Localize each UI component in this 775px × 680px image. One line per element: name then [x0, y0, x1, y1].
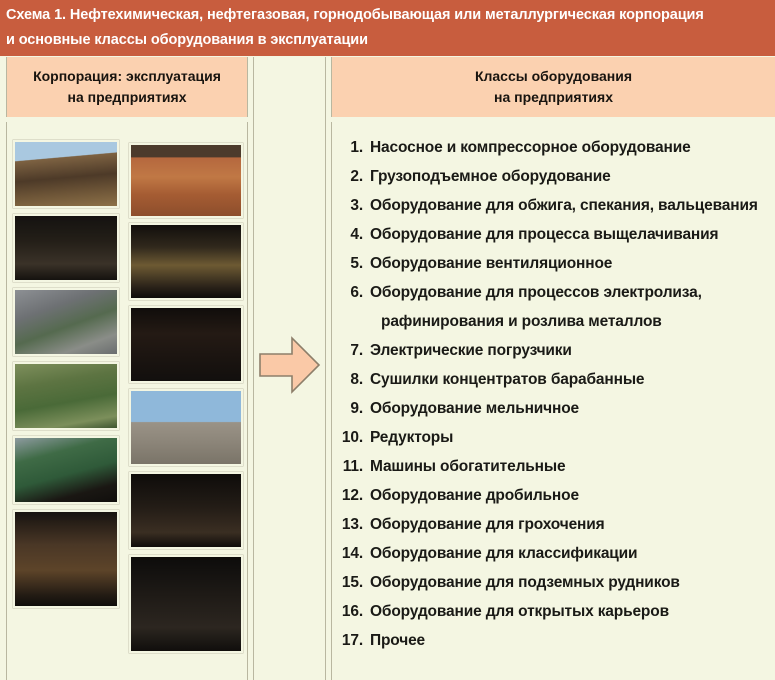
photo-orange-underground-lhd: [129, 472, 243, 549]
photo-green-conveyor-belt: [13, 436, 119, 504]
left-column-header: Корпорация: эксплуатация на предприятиях: [6, 57, 248, 117]
equipment-list-item: 8.Сушилки концентратов барабанные: [340, 365, 770, 394]
equipment-list-item: 7.Электрические погрузчики: [340, 336, 770, 365]
photo-industrial-pump-assembly: [13, 288, 119, 356]
equipment-item-label: Прочее: [370, 626, 770, 655]
equipment-item-number: 8.: [340, 365, 370, 394]
equipment-list-item: 5.Оборудование вентиляционное: [340, 249, 770, 278]
right-column-header-line-1: Классы оборудования: [475, 66, 632, 87]
equipment-item-label: Оборудование для обжига, спекания, вальц…: [370, 191, 770, 220]
photo-molten-metal-pouring: [129, 306, 243, 383]
photo-orange-drill-jumbo: [129, 555, 243, 653]
equipment-item-number: 10.: [340, 423, 370, 452]
equipment-item-number: 2.: [340, 162, 370, 191]
equipment-list-item: 3.Оборудование для обжига, спекания, вал…: [340, 191, 770, 220]
photo-underground-loader-in-tunnel: [129, 223, 243, 300]
equipment-item-label: Грузоподъемное оборудование: [370, 162, 770, 191]
left-column-header-line-2: на предприятиях: [67, 87, 186, 108]
equipment-item-label: Сушилки концентратов барабанные: [370, 365, 770, 394]
equipment-item-label: Оборудование для открытых карьеров: [370, 597, 770, 626]
equipment-class-list: 1.Насосное и компрессорное оборудование2…: [340, 133, 770, 655]
equipment-item-label: Насосное и компрессорное оборудование: [370, 133, 770, 162]
right-column-header-line-2: на предприятиях: [494, 87, 613, 108]
photo-copper-cathode-stacks: [129, 143, 243, 218]
photo-green-ball-mill: [13, 362, 119, 430]
right-arrow-icon: [258, 334, 321, 396]
figure-title-bar: Схема 1. Нефтехимическая, нефтегазовая, …: [0, 0, 775, 56]
equipment-list-item: 14.Оборудование для классификации: [340, 539, 770, 568]
equipment-list-item: 6.Оборудование для процессов электролиза…: [340, 278, 770, 307]
equipment-list-item: 15.Оборудование для подземных рудников: [340, 568, 770, 597]
schema-figure: Схема 1. Нефтехимическая, нефтегазовая, …: [0, 0, 775, 680]
equipment-item-number: 16.: [340, 597, 370, 626]
figure-title-line-1: Схема 1. Нефтехимическая, нефтегазовая, …: [6, 3, 769, 28]
equipment-list-item: 12.Оборудование дробильное: [340, 481, 770, 510]
equipment-item-number: 9.: [340, 394, 370, 423]
equipment-item-number: 3.: [340, 191, 370, 220]
equipment-list-item: 10.Редукторы: [340, 423, 770, 452]
figure-title-line-2: и основные классы оборудования в эксплуа…: [6, 28, 769, 53]
equipment-item-label: Оборудование для процесса выщелачивания: [370, 220, 770, 249]
equipment-list-item: 9.Оборудование мельничное: [340, 394, 770, 423]
equipment-item-label: рафинирования и розлива металлов: [370, 307, 770, 336]
equipment-item-number: 15.: [340, 568, 370, 597]
equipment-list-item: 1.Насосное и компрессорное оборудование: [340, 133, 770, 162]
equipment-item-label: Оборудование мельничное: [370, 394, 770, 423]
equipment-item-number: 12.: [340, 481, 370, 510]
equipment-item-label: Оборудование для грохочения: [370, 510, 770, 539]
equipment-item-number: 4.: [340, 220, 370, 249]
photo-open-pit-mining-shovel: [129, 389, 243, 466]
equipment-list-item: 17.Прочее: [340, 626, 770, 655]
equipment-item-number: 5.: [340, 249, 370, 278]
equipment-item-label: Оборудование дробильное: [370, 481, 770, 510]
equipment-list-item: 11.Машины обогатительные: [340, 452, 770, 481]
equipment-item-number: 1.: [340, 133, 370, 162]
equipment-list-item: 16.Оборудование для открытых карьеров: [340, 597, 770, 626]
equipment-item-number: 6.: [340, 278, 370, 307]
left-column-header-line-1: Корпорация: эксплуатация: [33, 66, 221, 87]
equipment-item-label: Оборудование для подземных рудников: [370, 568, 770, 597]
photo-underground-drilling-rig: [13, 214, 119, 282]
enterprise-photo-panel: [6, 122, 248, 680]
equipment-item-number: 17.: [340, 626, 370, 655]
photo-underground-haul-truck: [13, 510, 119, 608]
equipment-list-item: рафинирования и розлива металлов: [340, 307, 770, 336]
right-column-header: Классы оборудования на предприятиях: [331, 57, 775, 117]
equipment-item-number: 13.: [340, 510, 370, 539]
equipment-list-item: 4.Оборудование для процесса выщелачивани…: [340, 220, 770, 249]
equipment-item-label: Редукторы: [370, 423, 770, 452]
equipment-item-label: Электрические погрузчики: [370, 336, 770, 365]
equipment-list-item: 13.Оборудование для грохочения: [340, 510, 770, 539]
equipment-item-label: Оборудование вентиляционное: [370, 249, 770, 278]
equipment-list-item: 2.Грузоподъемное оборудование: [340, 162, 770, 191]
equipment-item-number: 7.: [340, 336, 370, 365]
equipment-item-number: 14.: [340, 539, 370, 568]
equipment-item-label: Машины обогатительные: [370, 452, 770, 481]
equipment-item-number: 11.: [340, 452, 370, 481]
photo-excavator-loading-haul-truck: [13, 140, 119, 208]
equipment-item-label: Оборудование для процессов электролиза,: [370, 278, 770, 307]
equipment-item-label: Оборудование для классификации: [370, 539, 770, 568]
